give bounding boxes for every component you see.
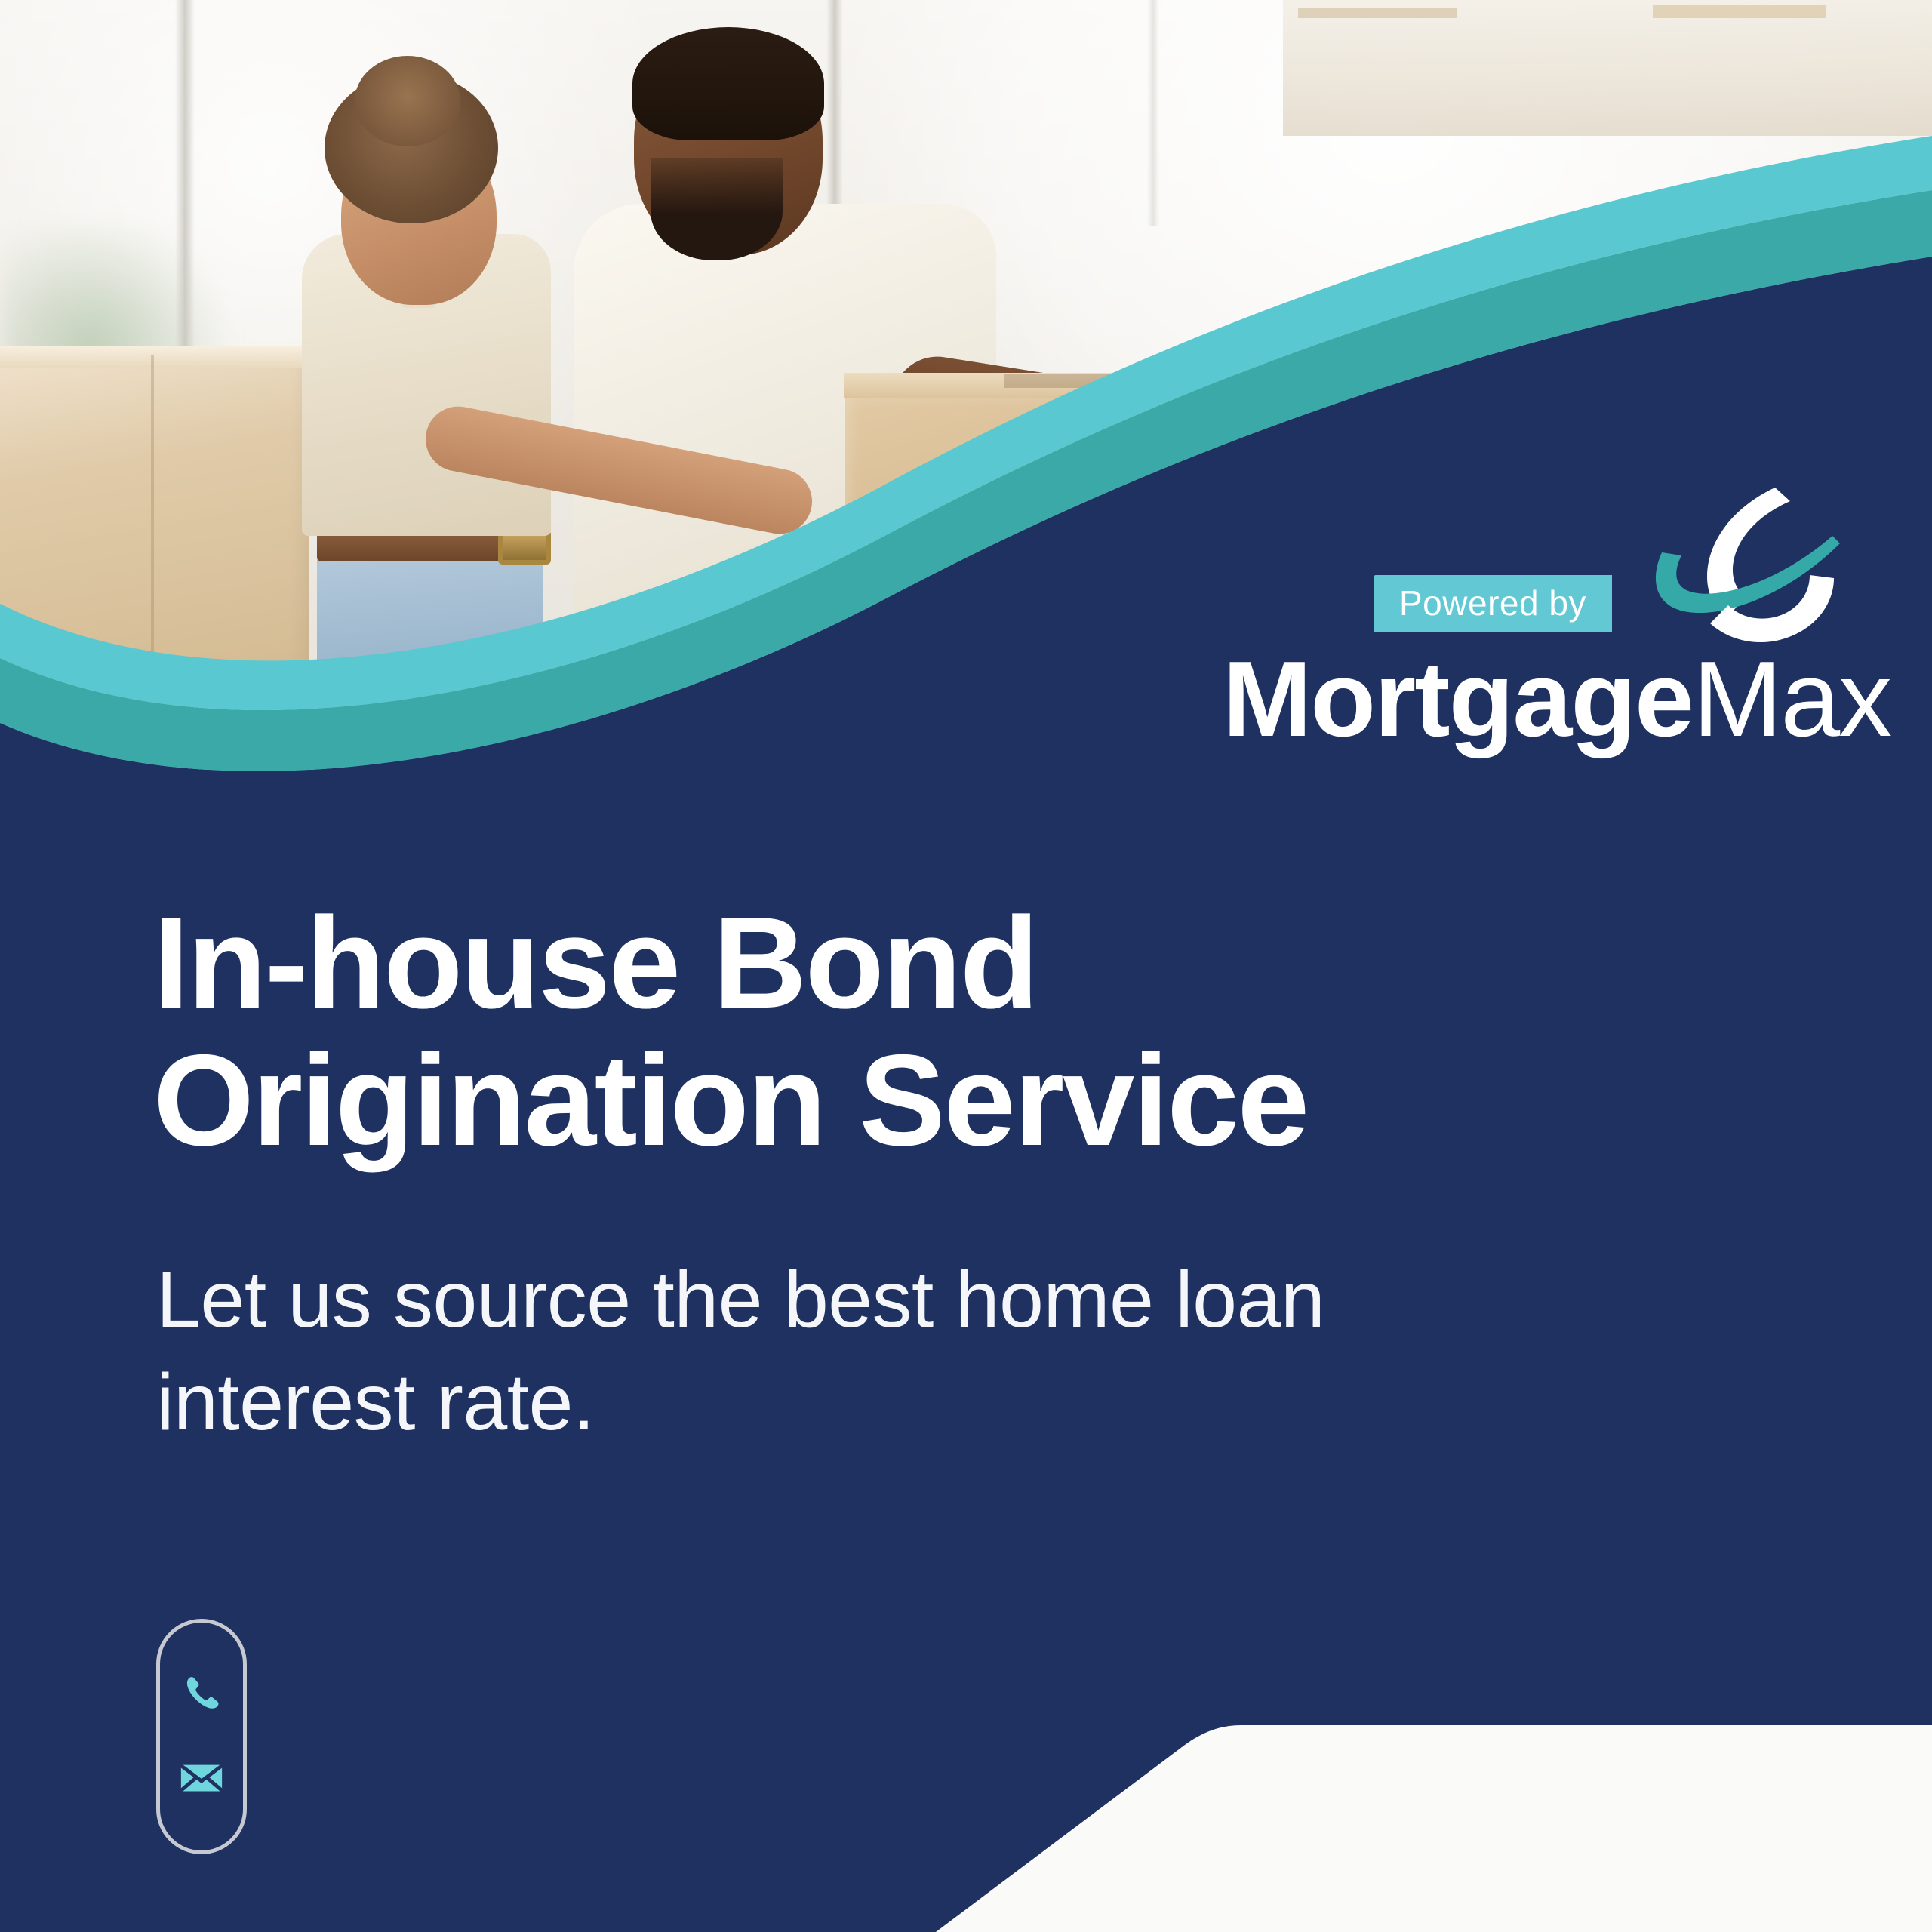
mortgagemax-swoosh-icon <box>1642 483 1876 657</box>
window-mullion-right <box>1147 0 1159 226</box>
cardboard-box-left <box>0 355 309 672</box>
cardboard-box-left-flap <box>0 346 317 368</box>
brand-logo-lockup[interactable]: Powered by MortgageMax <box>1223 483 1872 753</box>
background-counter-detail-left <box>1298 8 1457 18</box>
brand-wordmark: MortgageMax <box>1223 646 1872 753</box>
wordmark-max: Max <box>1693 639 1890 759</box>
powered-by-badge: Powered by <box>1374 575 1612 632</box>
phone-icon[interactable] <box>178 1672 225 1718</box>
logo-top-row: Powered by <box>1223 483 1872 641</box>
cardboard-box-right-tape <box>1004 374 1253 388</box>
man-hair <box>632 27 824 140</box>
man-beard <box>651 158 783 260</box>
headline-line-1: In-house Bond <box>153 894 1783 1032</box>
social-media-card: Powered by MortgageMax In-house Bond Ori… <box>0 0 1932 1932</box>
contact-pill[interactable] <box>156 1619 247 1854</box>
subheadline: Let us source the best home loan interes… <box>156 1249 1801 1454</box>
subheadline-line-2: interest rate. <box>156 1352 1801 1454</box>
corner-shape-path <box>936 1725 1932 1932</box>
woman-jeans <box>317 528 543 770</box>
cardboard-box-left-seam <box>151 355 154 672</box>
background-counter <box>1283 0 1932 136</box>
envelope-icon[interactable] <box>178 1755 225 1801</box>
bottom-right-corner-shape <box>936 1607 1932 1932</box>
background-counter-detail-right <box>1653 5 1826 18</box>
headline: In-house Bond Origination Service <box>153 894 1783 1170</box>
headline-line-2: Origination Service <box>153 1032 1783 1169</box>
subheadline-line-1: Let us source the best home loan <box>156 1249 1801 1352</box>
man-hand-on-waist <box>853 589 1026 702</box>
woman-hair-bun <box>355 56 460 146</box>
wordmark-mortgage: Mortgage <box>1223 639 1693 759</box>
